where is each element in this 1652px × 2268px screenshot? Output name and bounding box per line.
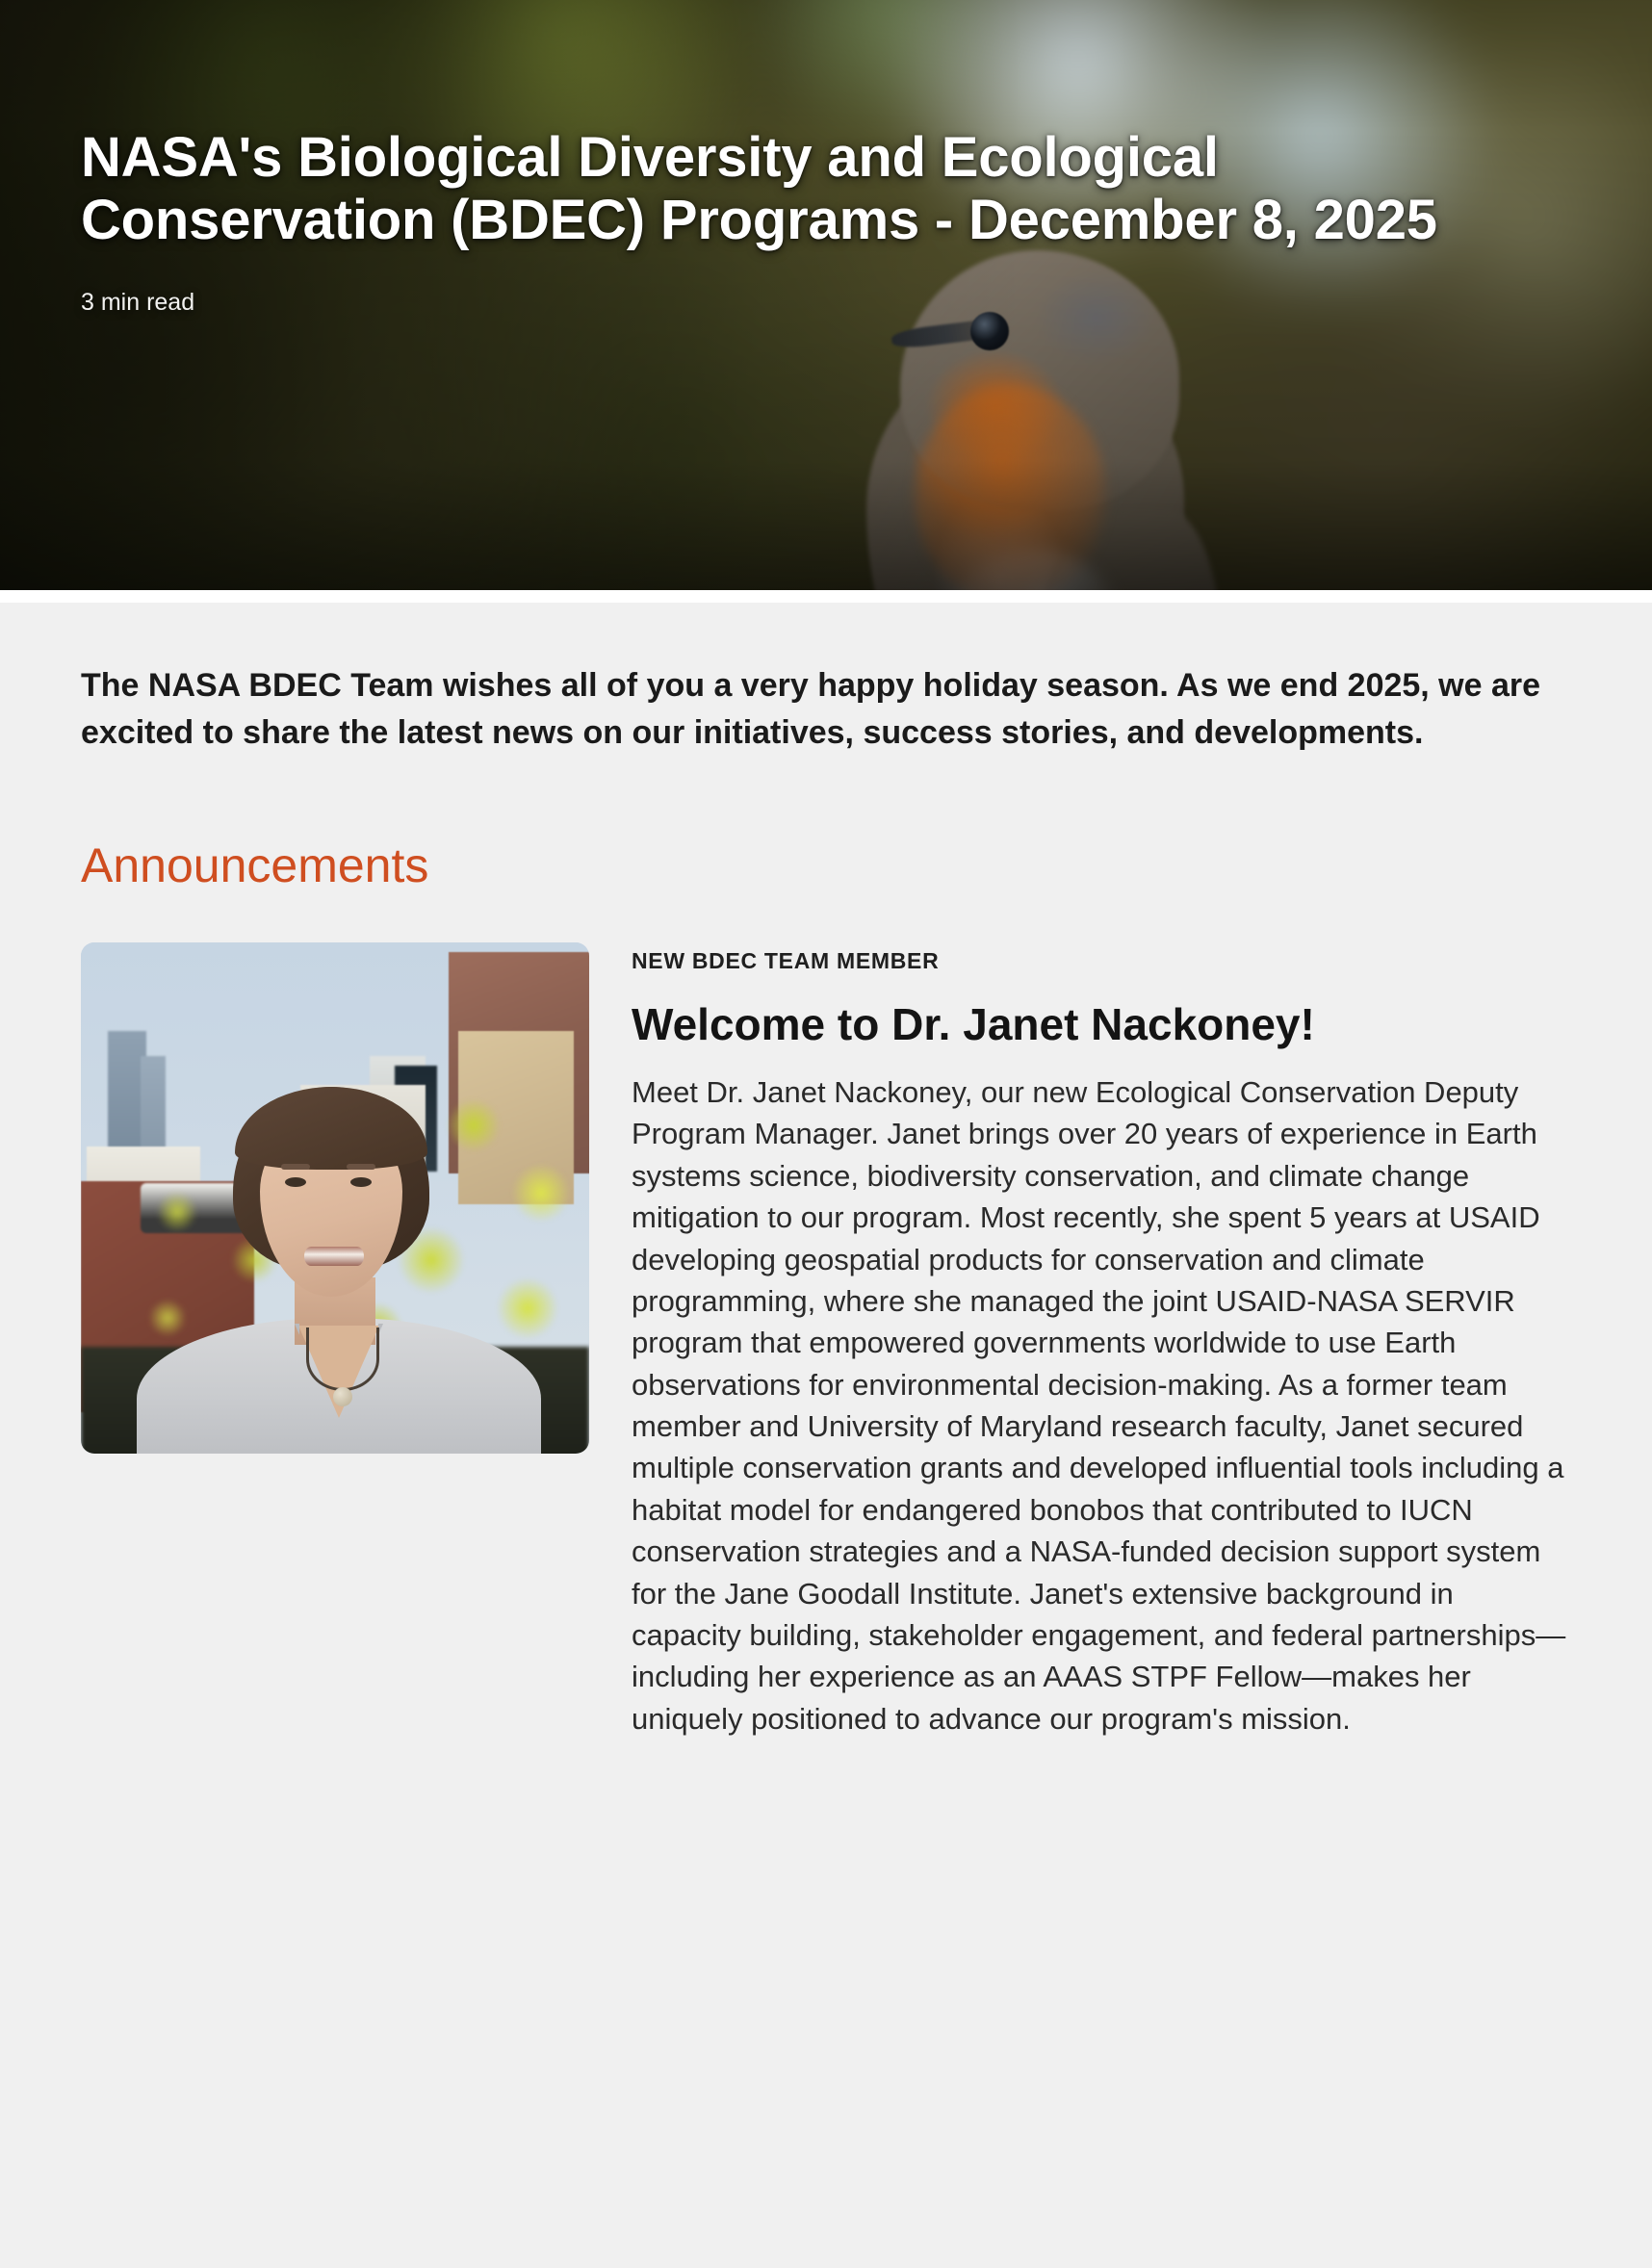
photo-necklace-chain <box>306 1327 379 1391</box>
section-heading-announcements: Announcements <box>81 839 1571 892</box>
announcement-text-column: NEW BDEC TEAM MEMBER Welcome to Dr. Jane… <box>632 942 1571 1740</box>
hero-banner: NASA's Biological Diversity and Ecologic… <box>0 0 1652 590</box>
announcement-item: NEW BDEC TEAM MEMBER Welcome to Dr. Jane… <box>81 942 1571 1740</box>
photo-eye <box>285 1177 306 1187</box>
announcement-eyebrow-label: NEW BDEC TEAM MEMBER <box>632 948 1571 974</box>
article-body: The NASA BDEC Team wishes all of you a v… <box>0 603 1652 2268</box>
intro-paragraph: The NASA BDEC Team wishes all of you a v… <box>81 603 1544 758</box>
photo-necklace-pendant <box>333 1387 352 1406</box>
hero-divider <box>0 590 1652 603</box>
photo-smile <box>304 1247 364 1266</box>
read-time-label: 3 min read <box>81 289 1583 317</box>
photo-eyebrow <box>281 1164 310 1170</box>
photo-eye <box>350 1177 372 1187</box>
announcement-title: Welcome to Dr. Janet Nackoney! <box>632 999 1571 1050</box>
page-title: NASA's Biological Diversity and Ecologic… <box>81 127 1554 252</box>
photo-eyebrow <box>347 1164 375 1170</box>
hero-text-block: NASA's Biological Diversity and Ecologic… <box>81 0 1583 317</box>
janet-nackoney-photo <box>81 942 589 1454</box>
announcement-body-text: Meet Dr. Janet Nackoney, our new Ecologi… <box>632 1071 1571 1740</box>
